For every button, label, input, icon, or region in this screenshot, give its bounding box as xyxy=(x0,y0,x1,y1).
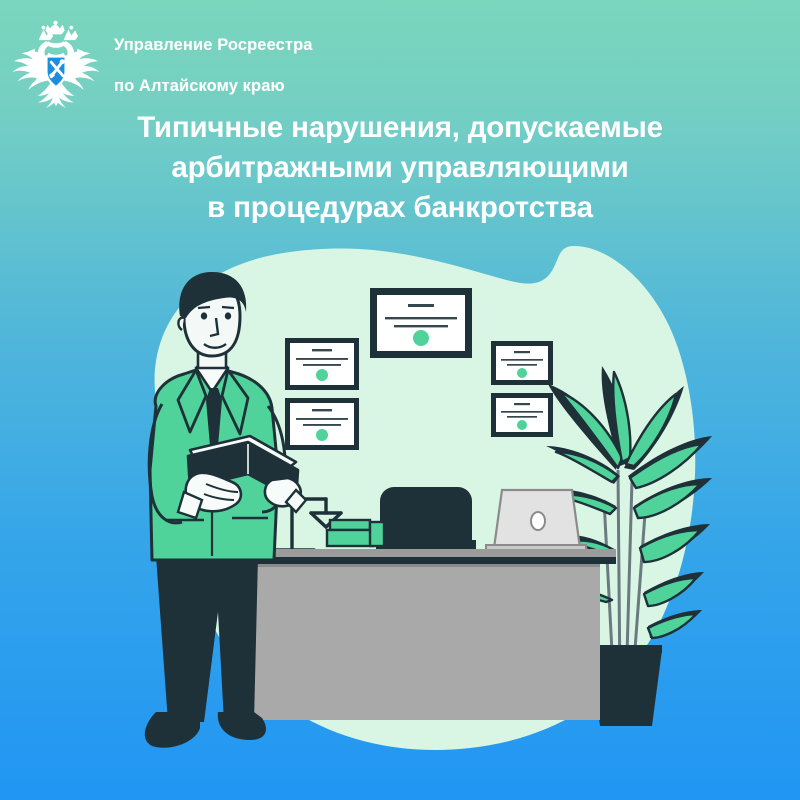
poster-canvas: Управление Росреестра по Алтайскому краю… xyxy=(0,0,800,800)
certificate-left-lower xyxy=(285,398,359,450)
shoe-left xyxy=(145,712,200,748)
laptop xyxy=(486,490,586,555)
certificate-right-upper xyxy=(491,341,553,385)
certificate-right-lower xyxy=(491,393,553,437)
brand-line-1: Управление Росреестра xyxy=(114,35,313,56)
stacked-books xyxy=(327,520,384,546)
title-line-2: арбитражными управляющими xyxy=(40,148,760,188)
rosreestr-double-headed-eagle-emblem xyxy=(8,20,104,112)
page-title: Типичные нарушения, допускаемые арбитраж… xyxy=(0,108,800,228)
brand-line-2: по Алтайскому краю xyxy=(114,76,313,97)
eye-right xyxy=(225,312,231,319)
plant-pot xyxy=(590,650,662,726)
office-desk xyxy=(238,549,616,720)
title-line-1: Типичные нарушения, допускаемые xyxy=(40,108,760,148)
shoe-right xyxy=(218,712,266,740)
brand-lockup: Управление Росреестра по Алтайскому краю xyxy=(8,14,313,118)
trousers xyxy=(156,556,258,722)
certificate-left-upper xyxy=(285,338,359,390)
title-line-3: в процедурах банкротства xyxy=(40,188,760,228)
certificate-large-top xyxy=(370,288,472,358)
brand-text: Управление Росреестра по Алтайскому краю xyxy=(114,14,313,118)
eye-left xyxy=(201,312,207,319)
